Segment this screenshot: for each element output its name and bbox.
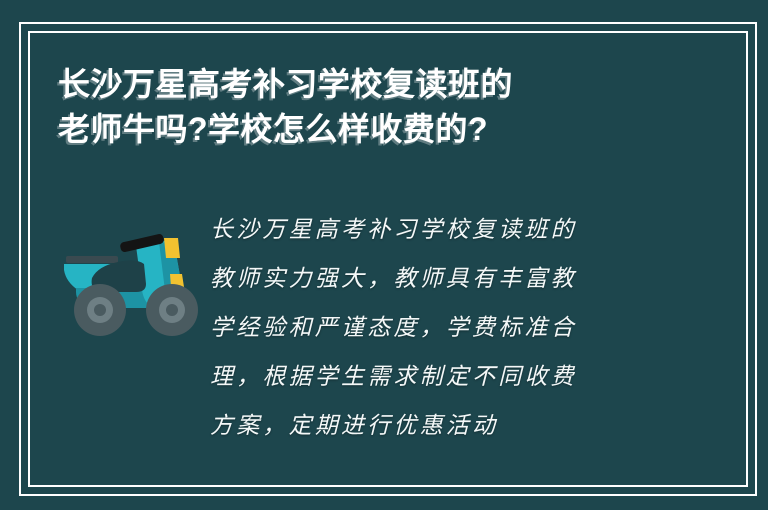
page-title-line-1: 长沙万星高考补习学校复读班的	[58, 62, 718, 107]
scooter-rack-icon	[66, 256, 118, 263]
body-text-line-1: 长沙万星高考补习学校复读班的	[210, 206, 648, 255]
page-title: 长沙万星高考补习学校复读班的 老师牛吗?学校怎么样收费的?	[58, 62, 718, 152]
body-text-line-3: 学经验和严谨态度，学费标准合	[210, 304, 648, 353]
promo-card: 长沙万星高考补习学校复读班的 老师牛吗?学校怎么样收费的?	[0, 0, 768, 510]
body-text-line-2: 教师实力强大，教师具有丰富教	[210, 255, 648, 304]
body-text-line-4: 理，根据学生需求制定不同收费	[210, 353, 648, 402]
body-text: 长沙万星高考补习学校复读班的 教师实力强大，教师具有丰富教 学经验和严谨态度，学…	[210, 206, 648, 451]
body-text-line-5: 方案，定期进行优惠活动	[210, 402, 648, 451]
page-title-line-2: 老师牛吗?学校怎么样收费的?	[58, 107, 718, 152]
scooter-accent-top	[164, 238, 180, 258]
scooter-illustration	[58, 212, 208, 344]
